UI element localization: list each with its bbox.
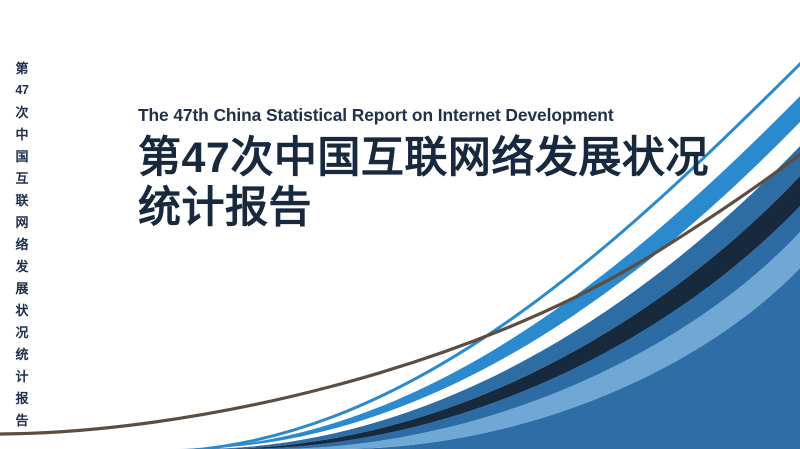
sidebar-vertical-title: 第 47 次 中 国 互 联 网 络 发 展 状 况 统 计 报 告 [9, 58, 35, 431]
sidebar-char: 状 [15, 300, 28, 321]
sidebar-char-number: 47 [15, 80, 28, 101]
sidebar-char: 网 [15, 212, 28, 233]
sidebar-char: 告 [15, 410, 28, 431]
report-cover-page: 第 47 次 中 国 互 联 网 络 发 展 状 况 统 计 报 告 The 4… [0, 0, 800, 449]
sidebar-char: 络 [15, 234, 28, 255]
sidebar-char: 发 [15, 256, 28, 277]
sidebar-char: 次 [15, 102, 28, 123]
page-title: 第47次中国互联网络发展状况 统计报告 [138, 133, 738, 233]
title-block: The 47th China Statistical Report on Int… [138, 103, 738, 233]
page-title-line-1: 第47次中国互联网络发展状况 [138, 133, 738, 183]
band-medium-blue-upper [238, 206, 800, 449]
band-medium-blue-base [340, 268, 800, 449]
sidebar-char: 展 [15, 278, 28, 299]
band-light-blue [272, 232, 800, 449]
sidebar-char: 统 [15, 344, 28, 365]
page-title-line-2: 统计报告 [138, 183, 738, 233]
subtitle-english: The 47th China Statistical Report on Int… [138, 103, 738, 127]
sidebar-char: 国 [15, 146, 28, 167]
sidebar-char: 互 [15, 168, 28, 189]
sidebar-char: 联 [15, 190, 28, 211]
sidebar-char: 中 [15, 124, 28, 145]
sidebar-char: 报 [15, 388, 28, 409]
sidebar-char: 第 [15, 58, 28, 79]
sidebar-char: 况 [15, 322, 28, 343]
sidebar-char: 计 [15, 366, 28, 387]
